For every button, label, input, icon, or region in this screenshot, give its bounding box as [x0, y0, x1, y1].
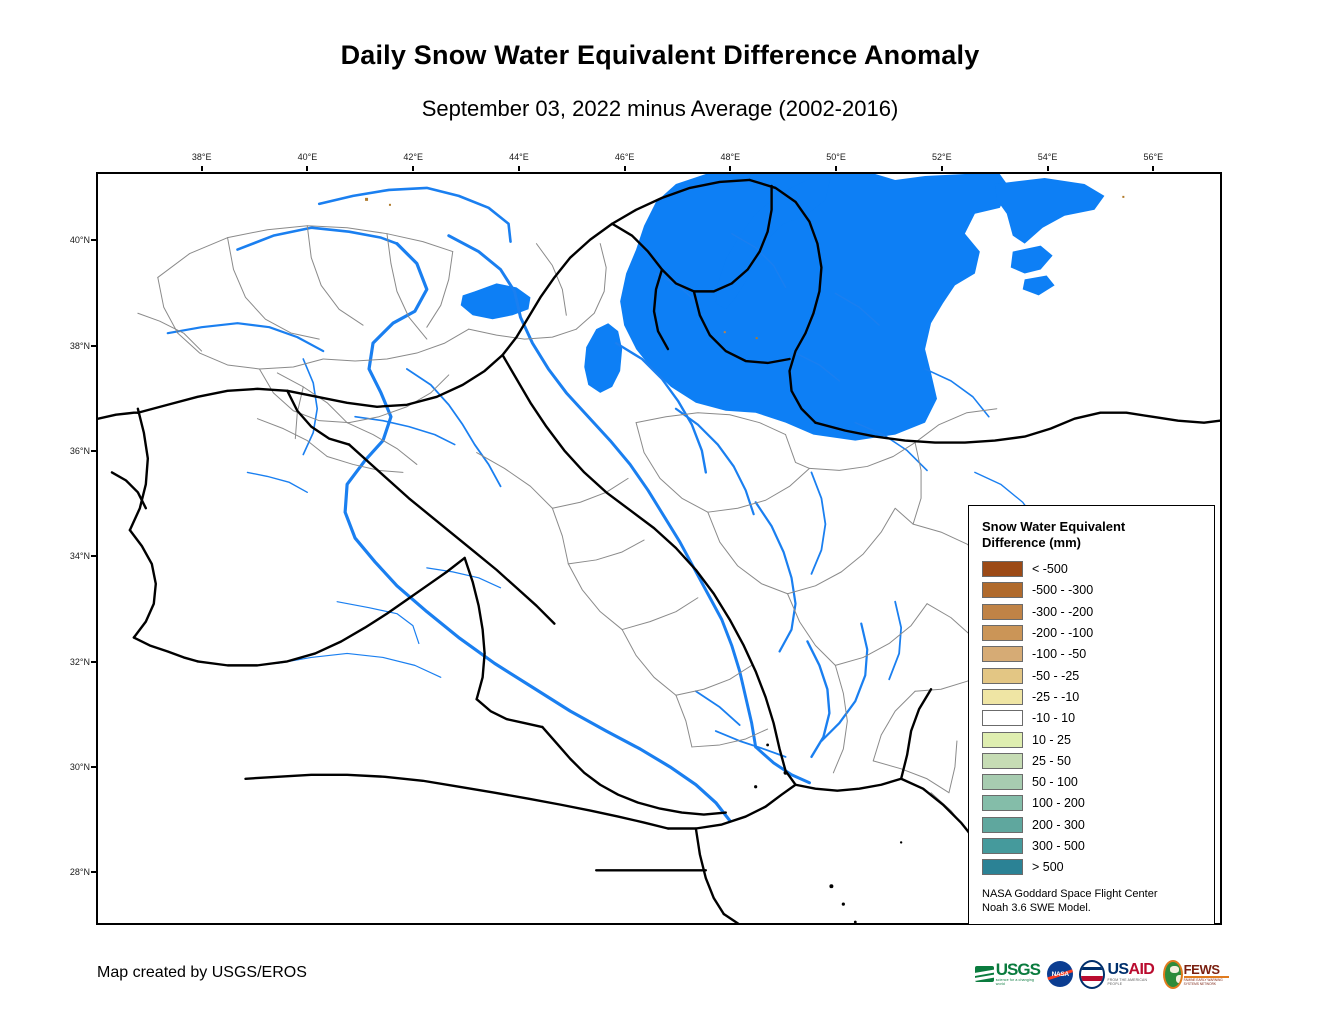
usgs-tagline: science for a changing world: [996, 978, 1041, 986]
longitude-tick-label: 42°E: [403, 152, 423, 162]
longitude-tick-mark: [941, 166, 943, 171]
legend-label: 50 - 100: [1032, 775, 1078, 789]
legend-row: 25 - 50: [982, 750, 1204, 771]
legend-row: 300 - 500: [982, 835, 1204, 856]
legend-label: -500 - -300: [1032, 583, 1093, 597]
latitude-tick-label: 36°N: [54, 446, 90, 456]
fews-tagline: FAMINE EARLY WARNING SYSTEMS NETWORK: [1184, 978, 1229, 986]
legend-swatch: [982, 753, 1023, 769]
usaid-tagline: FROM THE AMERICAN PEOPLE: [1107, 978, 1157, 986]
legend-swatch: [982, 668, 1023, 684]
legend-label: < -500: [1032, 562, 1068, 576]
legend-title-line-1: Snow Water Equivalent: [982, 519, 1204, 535]
legend-label: -25 - -10: [1032, 690, 1079, 704]
legend-footer-line-1: NASA Goddard Space Flight Center: [982, 887, 1204, 901]
usaid-seal-red-bar: [1081, 976, 1103, 981]
latitude-tick-label: 32°N: [54, 657, 90, 667]
legend-swatch: [982, 561, 1023, 577]
legend-label: -300 - -200: [1032, 605, 1093, 619]
legend-row: -300 - -200: [982, 601, 1204, 622]
usaid-wordmark: USAID: [1107, 962, 1157, 978]
legend-row: 200 - 300: [982, 814, 1204, 835]
legend-row: -500 - -300: [982, 580, 1204, 601]
legend-label: -10 - 10: [1032, 711, 1075, 725]
longitude-tick-mark: [835, 166, 837, 171]
map-legend: Snow Water Equivalent Difference (mm) < …: [968, 505, 1215, 925]
usaid-word-aid: AID: [1128, 961, 1154, 978]
longitude-tick-label: 46°E: [615, 152, 635, 162]
longitude-tick-mark: [1047, 166, 1049, 171]
longitude-tick-mark: [1152, 166, 1154, 171]
lake-urmia-water: [584, 323, 622, 393]
longitude-tick-label: 48°E: [721, 152, 741, 162]
longitude-tick-label: 52°E: [932, 152, 952, 162]
legend-row: < -500: [982, 559, 1204, 580]
fews-globe-icon: [1163, 960, 1183, 989]
legend-swatch: [982, 795, 1023, 811]
legend-label: -200 - -100: [1032, 626, 1093, 640]
agency-logos: USGS science for a changing world NASA U…: [975, 954, 1210, 994]
page-subtitle: September 03, 2022 minus Average (2002-2…: [0, 96, 1320, 122]
caspian-east-lobe: [995, 178, 1105, 244]
usaid-logo: USAID FROM THE AMERICAN PEOPLE: [1079, 957, 1157, 991]
longitude-tick-label: 40°E: [298, 152, 318, 162]
fews-wordmark: FEWS: [1184, 963, 1229, 976]
legend-swatch: [982, 817, 1023, 833]
legend-row: -200 - -100: [982, 622, 1204, 643]
longitude-tick-mark: [306, 166, 308, 171]
page-title: Daily Snow Water Equivalent Difference A…: [0, 40, 1320, 71]
legend-swatch: [982, 582, 1023, 598]
usaid-seal-icon: [1079, 960, 1105, 989]
longitude-tick-mark: [201, 166, 203, 171]
nasa-logo: NASA: [1047, 957, 1073, 991]
legend-swatch: [982, 710, 1023, 726]
legend-entries: < -500-500 - -300-300 - -200-200 - -100-…: [982, 559, 1204, 878]
caspian-east-islands: [1011, 246, 1055, 296]
legend-label: > 500: [1032, 860, 1064, 874]
legend-row: -25 - -10: [982, 686, 1204, 707]
legend-row: > 500: [982, 857, 1204, 878]
longitude-tick-label: 54°E: [1038, 152, 1058, 162]
usgs-wordmark: USGS: [996, 962, 1041, 978]
legend-row: 50 - 100: [982, 771, 1204, 792]
longitude-tick-label: 56°E: [1143, 152, 1163, 162]
legend-row: -50 - -25: [982, 665, 1204, 686]
legend-footer-line-2: Noah 3.6 SWE Model.: [982, 901, 1204, 915]
longitude-tick-mark: [518, 166, 520, 171]
legend-swatch: [982, 646, 1023, 662]
legend-swatch: [982, 774, 1023, 790]
legend-label: 25 - 50: [1032, 754, 1071, 768]
longitude-tick-label: 38°E: [192, 152, 212, 162]
legend-title-line-2: Difference (mm): [982, 535, 1204, 551]
fews-net-logo: FEWS FAMINE EARLY WARNING SYSTEMS NETWOR…: [1163, 957, 1229, 991]
map-credit: Map created by USGS/EROS: [97, 964, 307, 982]
usaid-word-us: US: [1107, 961, 1128, 978]
longitude-tick-mark: [624, 166, 626, 171]
legend-row: -100 - -50: [982, 644, 1204, 665]
legend-title: Snow Water Equivalent Difference (mm): [982, 519, 1204, 552]
legend-label: 100 - 200: [1032, 796, 1085, 810]
map-page: Daily Snow Water Equivalent Difference A…: [0, 0, 1320, 1020]
latitude-tick-label: 38°N: [54, 341, 90, 351]
usgs-logo: USGS science for a changing world: [975, 957, 1041, 991]
legend-row: 10 - 25: [982, 729, 1204, 750]
usgs-wave-icon: [975, 966, 994, 982]
legend-swatch: [982, 859, 1023, 875]
legend-footer: NASA Goddard Space Flight Center Noah 3.…: [982, 887, 1204, 916]
longitude-tick-mark: [729, 166, 731, 171]
legend-swatch: [982, 732, 1023, 748]
longitude-tick-label: 44°E: [509, 152, 529, 162]
legend-row: -10 - 10: [982, 708, 1204, 729]
legend-row: 100 - 200: [982, 793, 1204, 814]
legend-swatch: [982, 689, 1023, 705]
longitude-tick-label: 50°E: [826, 152, 846, 162]
legend-swatch: [982, 625, 1023, 641]
latitude-tick-label: 40°N: [54, 235, 90, 245]
latitude-tick-label: 34°N: [54, 551, 90, 561]
nasa-meatball-icon: NASA: [1047, 961, 1073, 987]
usaid-seal-top-bar: [1081, 967, 1103, 970]
legend-label: 200 - 300: [1032, 818, 1085, 832]
legend-label: 300 - 500: [1032, 839, 1085, 853]
legend-label: -50 - -25: [1032, 669, 1079, 683]
longitude-tick-mark: [412, 166, 414, 171]
legend-swatch: [982, 604, 1023, 620]
nasa-wordmark: NASA: [1052, 971, 1069, 978]
legend-label: -100 - -50: [1032, 647, 1086, 661]
latitude-tick-label: 30°N: [54, 762, 90, 772]
legend-swatch: [982, 838, 1023, 854]
legend-label: 10 - 25: [1032, 733, 1071, 747]
latitude-tick-label: 28°N: [54, 867, 90, 877]
